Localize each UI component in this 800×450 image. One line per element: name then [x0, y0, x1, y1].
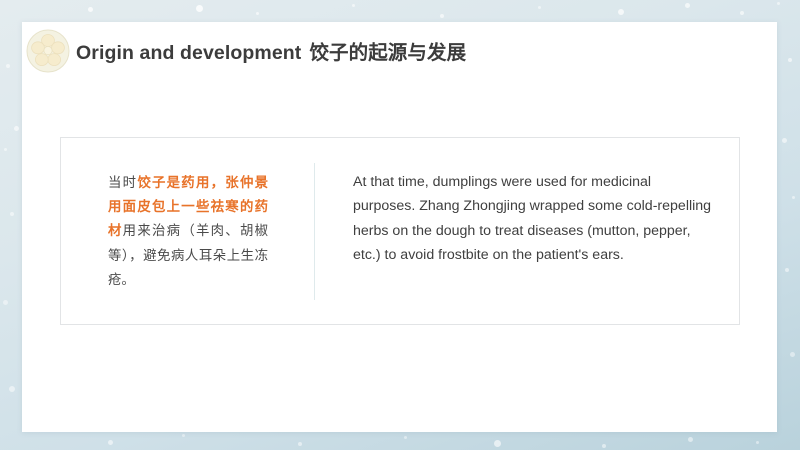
- slide-header: Origin and development饺子的起源与发展: [22, 22, 777, 100]
- chinese-tail: 用来治病（羊肉、胡椒等），避免病人耳朵上生冻疮。: [108, 223, 268, 286]
- chinese-paragraph: 当时饺子是药用，张仲景用面皮包上一些祛寒的药材用来治病（羊肉、胡椒等），避免病人…: [108, 171, 268, 292]
- flower-blossom-icon: [25, 28, 71, 74]
- content-box: 当时饺子是药用，张仲景用面皮包上一些祛寒的药材用来治病（羊肉、胡椒等），避免病人…: [60, 137, 740, 325]
- page-title: Origin and development饺子的起源与发展: [76, 36, 466, 65]
- english-paragraph: At that time, dumplings were used for me…: [353, 170, 713, 267]
- page-title-en: Origin and development: [76, 42, 301, 64]
- slide-root: Origin and development饺子的起源与发展 当时饺子是药用，张…: [0, 0, 800, 450]
- chinese-lead: 当时: [108, 175, 137, 190]
- content-card: Origin and development饺子的起源与发展 当时饺子是药用，张…: [22, 22, 777, 432]
- column-divider: [314, 163, 315, 300]
- page-title-cn: 饺子的起源与发展: [309, 42, 466, 64]
